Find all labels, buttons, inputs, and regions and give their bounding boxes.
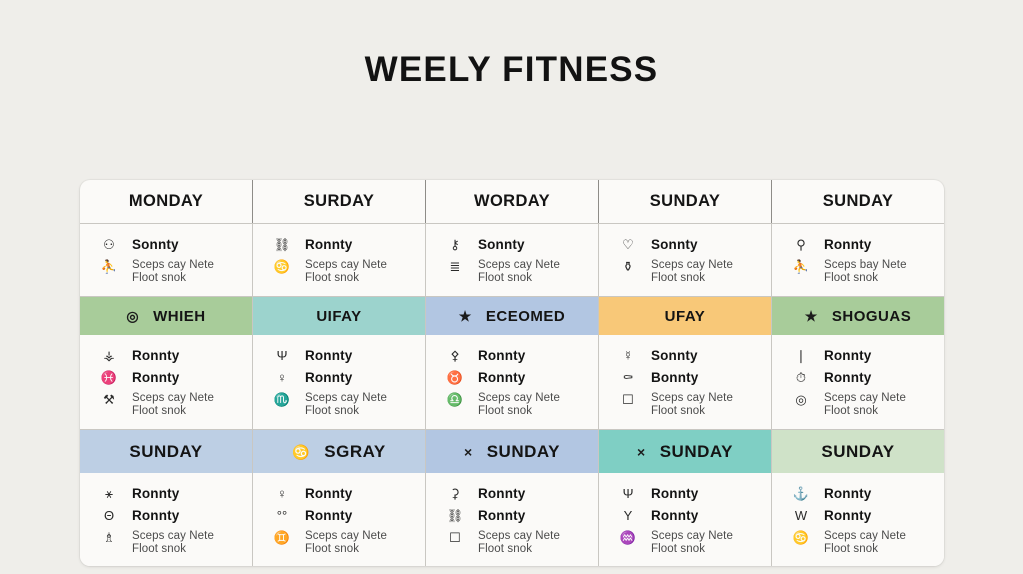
list-item[interactable]: ≣ Sceps cay Nete Floot snok [446,259,586,284]
activity-subtext-1: Sceps cay Nete [478,530,560,543]
activity-title: Ronnty [651,508,698,523]
activity-subtext-2: Floot snok [305,272,387,285]
list-item[interactable]: ♗ Sceps cay Nete Floot snok [100,530,240,555]
bench-icon: ☐ [446,530,464,545]
list-item[interactable]: ⛹ Sceps cay Nete Floot snok [100,259,240,284]
star-icon: ★ [459,309,472,323]
activity-subtext-2: Floot snok [478,405,560,418]
activity-title: Ronnty [132,348,179,363]
list-item[interactable]: ☿ Sonnty [619,348,759,363]
list-item[interactable]: Υ Ronnty [619,508,759,523]
day-header-surday: SURDAY [253,180,426,223]
list-item[interactable]: W Ronnty [792,508,932,523]
activity-subtext-1: Sceps cay Nete [305,530,387,543]
activity-subtext-2: Floot snok [651,272,733,285]
ladder-icon: ≣ [446,259,464,274]
list-item[interactable]: ⚷ Sonnty [446,237,586,252]
activity-subtext-1: Sceps cay Nete [651,259,733,272]
activity-title: Ronnty [824,508,871,523]
binoculars2-icon: ♋ [792,530,810,545]
activity-cell[interactable]: ♡ Sonnty ⚱ Sceps cay Nete Floot snok [599,224,772,296]
activity-title: Ronnty [824,237,871,252]
dumbbell-icon: ⛓ [273,237,291,252]
weight-icon: ♉ [446,370,464,385]
target-icon: ◎ [126,309,139,323]
kettlebell-icon: Θ [100,508,118,523]
activity-subtext-2: Floot snok [478,272,560,285]
activity-cell[interactable]: ⚷ Sonnty ≣ Sceps cay Nete Floot snok [426,224,599,296]
list-item[interactable]: ⚓ Ronnty [792,486,932,501]
activity-title: Sonnty [651,348,698,363]
banner-row-2: SUNDAY ♋ SGRAY × SUNDAY × SUNDAY SUNDAY [80,430,944,473]
cross-icon: × [637,445,646,459]
activity-title: Ronnty [305,508,352,523]
list-item[interactable]: ◎ Sceps cay Nete Floot snok [792,392,932,417]
gym-mat-icon: ♎ [446,392,464,407]
sit-up-icon: ♊ [273,530,291,545]
star-icon: ★ [805,309,818,323]
day-header-label: WORDAY [474,192,550,211]
activity-cell[interactable]: ⚶ Ronnty ♓ Ronnty ⚒ Sceps cay Nete Floot… [80,335,253,429]
banner-label: SUNDAY [487,442,560,462]
shoe-icon: ⚲ [792,237,810,252]
list-item[interactable]: Θ Ronnty [100,508,240,523]
weekly-planner-card: MONDAY SURDAY WORDAY SUNDAY SUNDAY ⚇ Son… [80,180,944,566]
activity-title: Ronnty [305,486,352,501]
activity-subtext-2: Floot snok [651,543,733,556]
day-header-worday: WORDAY [426,180,599,223]
fork-icon: Ψ [619,486,637,501]
activity-title: Bonnty [651,370,698,385]
activity-cell[interactable]: ⚇ Sonnty ⛹ Sceps cay Nete Floot snok [80,224,253,296]
activity-subtext-2: Floot snok [824,543,906,556]
bell-icon: ♀ [273,486,291,501]
banner-cell-sgray[interactable]: ♋ SGRAY [253,430,426,473]
list-item[interactable]: ♉ Ronnty [446,370,586,385]
activity-cell[interactable]: ☿ Sonnty ⚰ Bonnty ☐ Sceps cay Nete Floot… [599,335,772,429]
activity-title: Ronnty [305,370,352,385]
activity-subtext-1: Sceps cay Nete [478,392,560,405]
activity-subtext-2: Floot snok [305,405,387,418]
activity-cell[interactable]: ⛓ Ronnty ♋ Sceps cay Nete Floot snok [253,224,426,296]
list-item[interactable]: ❘ Ronnty [792,348,932,363]
list-item[interactable]: ☐ Sceps cay Nete Floot snok [619,392,759,417]
activity-cell[interactable]: ⚲ Ronnty ⛹ Sceps bay Nete Floot snok [772,224,944,296]
activity-title: Ronnty [824,370,871,385]
activity-title: Ronnty [478,370,525,385]
activity-subtext-1: Sceps cay Nete [478,259,560,272]
list-item[interactable]: ♒ Sceps cay Nete Floot snok [619,530,759,555]
activity-title: Ronnty [132,508,179,523]
day-header-label: SURDAY [304,192,375,211]
banner-cell-ufay[interactable]: UFAY [599,297,772,335]
page-title: WEELY FITNESS [0,52,1023,87]
day-header-monday: MONDAY [80,180,253,223]
activity-subtext-2: Floot snok [132,543,214,556]
pillars-icon: W [792,508,810,523]
list-item[interactable]: ⚹ Ronnty [100,486,240,501]
activity-subtext-2: Floot snok [132,272,214,285]
banner-row-1: ◎ WHIEH UIFAY ★ ECEOMED UFAY ★ SHOGUAS [80,297,944,335]
cross-icon: × [464,445,473,459]
activity-title: Ronnty [305,348,352,363]
binoculars-icon: ♋ [273,259,291,274]
list-item[interactable]: ⚶ Ronnty [100,348,240,363]
jump-rope-icon: ⚶ [100,348,118,363]
banner-label: UFAY [665,308,706,325]
list-item[interactable]: ♓ Ronnty [100,370,240,385]
day-header-row: MONDAY SURDAY WORDAY SUNDAY SUNDAY [80,180,944,224]
list-item[interactable]: ♀ Ronnty [273,486,413,501]
rowing-icon: ♗ [100,530,118,545]
day-header-sunday-1: SUNDAY [599,180,772,223]
list-item[interactable]: ⚱ Sceps cay Nete Floot snok [619,259,759,284]
activity-subtext-2: Floot snok [824,405,906,418]
activity-title: Sonnty [651,237,698,252]
glasses-icon: °° [273,508,291,523]
activity-cell[interactable]: Ψ Ronnty ♀ Ronnty ♏ Sceps cay Nete Floot… [253,335,426,429]
activity-title: Ronnty [651,486,698,501]
list-item[interactable]: ⛹ Sceps bay Nete Floot snok [792,259,932,284]
rabbit-icon: ♋ [292,445,310,459]
person-stand-icon: ⚹ [100,486,118,501]
list-item[interactable]: ⛓ Ronnty [446,508,586,523]
banner-label: UIFAY [316,308,361,325]
list-item[interactable]: ♏ Sceps cay Nete Floot snok [273,392,413,417]
person-icon: ⚇ [100,237,118,252]
heart-icon: ♡ [619,237,637,252]
banner-cell-shoguas[interactable]: ★ SHOGUAS [772,297,944,335]
list-item[interactable]: Ψ Ronnty [273,348,413,363]
scale-icon: ⚷ [446,237,464,252]
activity-subtext-1: Sceps cay Nete [132,259,214,272]
banner-label: SUNDAY [660,442,733,462]
activity-title: Sonnty [478,237,525,252]
activity-subtext-2: Floot snok [478,543,560,556]
list-item[interactable]: ⛓ Ronnty [273,237,413,252]
activity-subtext-1: Sceps cay Nete [305,392,387,405]
list-item[interactable]: ⚴ Ronnty [446,348,586,363]
activity-subtext-1: Sceps bay Nete [824,259,907,272]
day-header-label: SUNDAY [650,192,721,211]
list-item[interactable]: Ψ Ronnty [619,486,759,501]
activity-title: Ronnty [824,348,871,363]
runner-icon: ⛹ [100,259,118,274]
list-item[interactable]: ⏱ Ronnty [792,370,932,385]
banner-cell-eceomed[interactable]: ★ ECEOMED [426,297,599,335]
activity-cell[interactable]: ♀ Ronnty °° Ronnty ♊ Sceps cay Nete Floo… [253,473,426,566]
banner-label: ECEOMED [486,308,565,325]
helmet-icon: ♓ [100,370,118,385]
activity-title: Ronnty [305,237,352,252]
barbell-icon: ⛓ [446,508,464,523]
activity-row-2: ⚶ Ronnty ♓ Ronnty ⚒ Sceps cay Nete Floot… [80,335,944,430]
banner-label: SUNDAY [129,442,202,462]
list-item[interactable]: ♋ Sceps cay Nete Floot snok [273,259,413,284]
activity-subtext-1: Sceps cay Nete [651,530,733,543]
day-header-label: SUNDAY [823,192,894,211]
activity-row-1: ⚇ Sonnty ⛹ Sceps cay Nete Floot snok ⛓ R… [80,224,944,297]
activity-title: Ronnty [478,486,525,501]
cross-tools-icon: ⚒ [100,392,118,407]
tuning-fork-icon: Ψ [273,348,291,363]
activity-subtext-2: Floot snok [824,272,907,285]
banner-label: SUNDAY [821,442,894,462]
trident-icon: Υ [619,508,637,523]
banner-cell-sunday-1[interactable]: SUNDAY [80,430,253,473]
list-item[interactable]: ♀ Ronnty [273,370,413,385]
activity-cell[interactable]: Ψ Ronnty Υ Ronnty ♒ Sceps cay Nete Floot… [599,473,772,566]
activity-title: Ronnty [478,508,525,523]
banner-cell-whieh[interactable]: ◎ WHIEH [80,297,253,335]
banner-cell-sunday-2[interactable]: × SUNDAY [426,430,599,473]
target2-icon: ◎ [792,392,810,407]
skater-icon: ⚳ [446,486,464,501]
person-arms-icon: ⛹ [792,259,810,274]
activity-cell[interactable]: ❘ Ronnty ⏱ Ronnty ◎ Sceps cay Nete Floot… [772,335,944,429]
anchor-icon: ⚓ [792,486,810,501]
banner-cell-sunday-3[interactable]: × SUNDAY [599,430,772,473]
activity-title: Ronnty [132,486,179,501]
banner-label: WHIEH [153,308,206,325]
activity-title: Sonnty [132,237,179,252]
bar-icon: ❘ [792,348,810,363]
list-item[interactable]: ⚇ Sonnty [100,237,240,252]
banner-cell-uifay[interactable]: UIFAY [253,297,426,335]
list-item[interactable]: ⚳ Ronnty [446,486,586,501]
activity-subtext-1: Sceps cay Nete [824,530,906,543]
day-header-sunday-2: SUNDAY [772,180,944,223]
activity-title: Ronnty [478,348,525,363]
activity-subtext-2: Floot snok [651,405,733,418]
activity-title: Ronnty [824,486,871,501]
activity-cell[interactable]: ⚹ Ronnty Θ Ronnty ♗ Sceps cay Nete Floot… [80,473,253,566]
flask-icon: ⚱ [619,259,637,274]
activity-cell[interactable]: ⚳ Ronnty ⛓ Ronnty ☐ Sceps cay Nete Floot… [426,473,599,566]
list-item[interactable]: ⚰ Bonnty [619,370,759,385]
bicycle-icon: ⚴ [446,348,464,363]
list-item[interactable]: ☐ Sceps cay Nete Floot snok [446,530,586,555]
list-item[interactable]: ♊ Sceps cay Nete Floot snok [273,530,413,555]
activity-subtext-2: Floot snok [305,543,387,556]
activity-subtext-1: Sceps cay Nete [132,530,214,543]
activity-cell[interactable]: ⚓ Ronnty W Ronnty ♋ Sceps cay Nete Floot… [772,473,944,566]
list-item[interactable]: ♎ Sceps cay Nete Floot snok [446,392,586,417]
activity-subtext-1: Sceps cay Nete [132,392,214,405]
activity-cell[interactable]: ⚴ Ronnty ♉ Ronnty ♎ Sceps cay Nete Floot… [426,335,599,429]
activity-subtext-1: Sceps cay Nete [651,392,733,405]
balloon-icon: ♀ [273,370,291,385]
activity-subtext-1: Sceps cay Nete [824,392,906,405]
day-header-label: MONDAY [129,192,203,211]
clock-arm-icon: ☿ [619,348,637,363]
banner-label: SHOGUAS [832,308,911,325]
activity-subtext-1: Sceps cay Nete [305,259,387,272]
timer-icon: ⏱ [792,370,810,385]
activity-title: Ronnty [132,370,179,385]
list-item[interactable]: ⚲ Ronnty [792,237,932,252]
banner-label: SGRAY [324,442,385,462]
stool-icon: ♒ [619,530,637,545]
list-item[interactable]: ⚒ Sceps cay Nete Floot snok [100,392,240,417]
banner-cell-sunday-4[interactable]: SUNDAY [772,430,944,473]
list-item[interactable]: ♡ Sonnty [619,237,759,252]
activity-subtext-2: Floot snok [132,405,214,418]
legs-icon: ♏ [273,392,291,407]
activity-row-3: ⚹ Ronnty Θ Ronnty ♗ Sceps cay Nete Floot… [80,473,944,566]
list-item[interactable]: °° Ronnty [273,508,413,523]
bottle-icon: ☐ [619,392,637,407]
list-item[interactable]: ♋ Sceps cay Nete Floot snok [792,530,932,555]
kettle-icon: ⚰ [619,370,637,385]
